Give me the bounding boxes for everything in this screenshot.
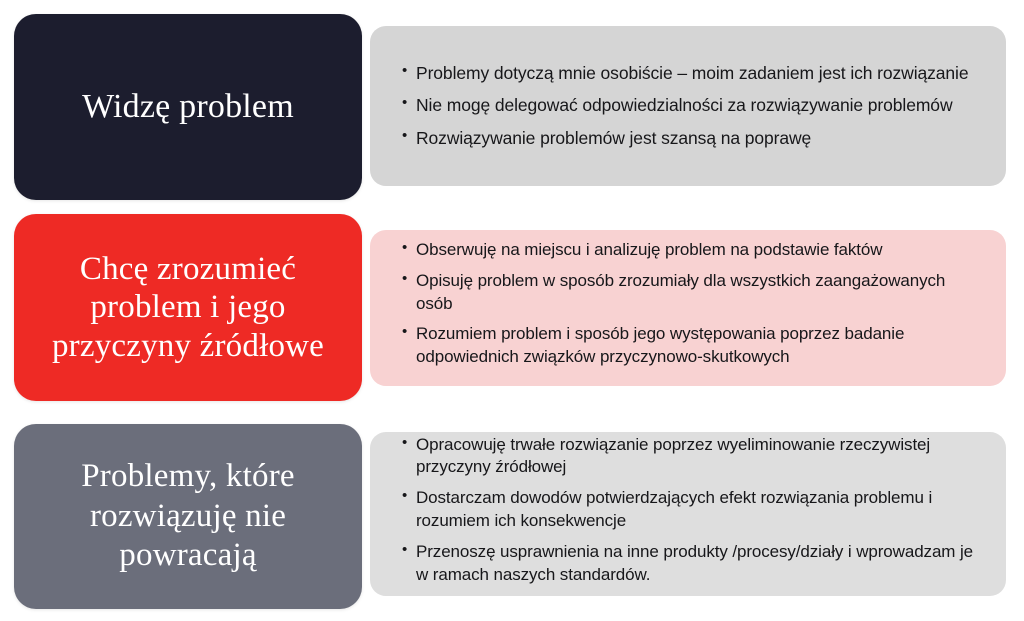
label-card-1-text: Widzę problem — [82, 87, 294, 128]
bullet-list-1: Problemy dotyczą mnie osobiście – moim z… — [380, 62, 986, 150]
bullet-panel-1: Problemy dotyczą mnie osobiście – moim z… — [370, 26, 1006, 186]
label-card-1: Widzę problem — [14, 14, 362, 200]
infographic-row-2: Obserwuję na miejscu i analizuję problem… — [0, 214, 1024, 401]
label-card-3: Problemy, które rozwiązuję nie powracają — [14, 424, 362, 609]
bullet-item: Rozwiązywanie problemów jest szansą na p… — [402, 127, 986, 150]
bullet-list-3: Opracowuję trwałe rozwiązanie poprzez wy… — [380, 434, 986, 595]
label-card-3-text: Problemy, które rozwiązuję nie powracają — [28, 457, 348, 576]
bullet-item: Opracowuję trwałe rozwiązanie poprzez wy… — [402, 434, 986, 480]
label-card-2: Chcę zrozumieć problem i jego przyczyny … — [14, 214, 362, 401]
bullet-item: Obserwuję na miejscu i analizuję problem… — [402, 239, 986, 262]
bullet-item: Rozumiem problem i sposób jego występowa… — [402, 323, 986, 369]
infographic-row-1: Problemy dotyczą mnie osobiście – moim z… — [0, 14, 1024, 200]
infographic-root: Problemy dotyczą mnie osobiście – moim z… — [0, 0, 1024, 621]
bullet-panel-3: Opracowuję trwałe rozwiązanie poprzez wy… — [370, 432, 1006, 596]
bullet-item: Problemy dotyczą mnie osobiście – moim z… — [402, 62, 986, 85]
bullet-panel-2: Obserwuję na miejscu i analizuję problem… — [370, 230, 1006, 386]
bullet-item: Przenoszę usprawnienia na inne produkty … — [402, 541, 986, 587]
bullet-item: Opisuję problem w sposób zrozumiały dla … — [402, 270, 986, 316]
infographic-row-3: Opracowuję trwałe rozwiązanie poprzez wy… — [0, 424, 1024, 609]
bullet-list-2: Obserwuję na miejscu i analizuję problem… — [380, 239, 986, 377]
label-card-2-text: Chcę zrozumieć problem i jego przyczyny … — [28, 250, 348, 366]
bullet-item: Dostarczam dowodów potwierdzających efek… — [402, 487, 986, 533]
bullet-item: Nie mogę delegować odpowiedzialności za … — [402, 94, 986, 117]
